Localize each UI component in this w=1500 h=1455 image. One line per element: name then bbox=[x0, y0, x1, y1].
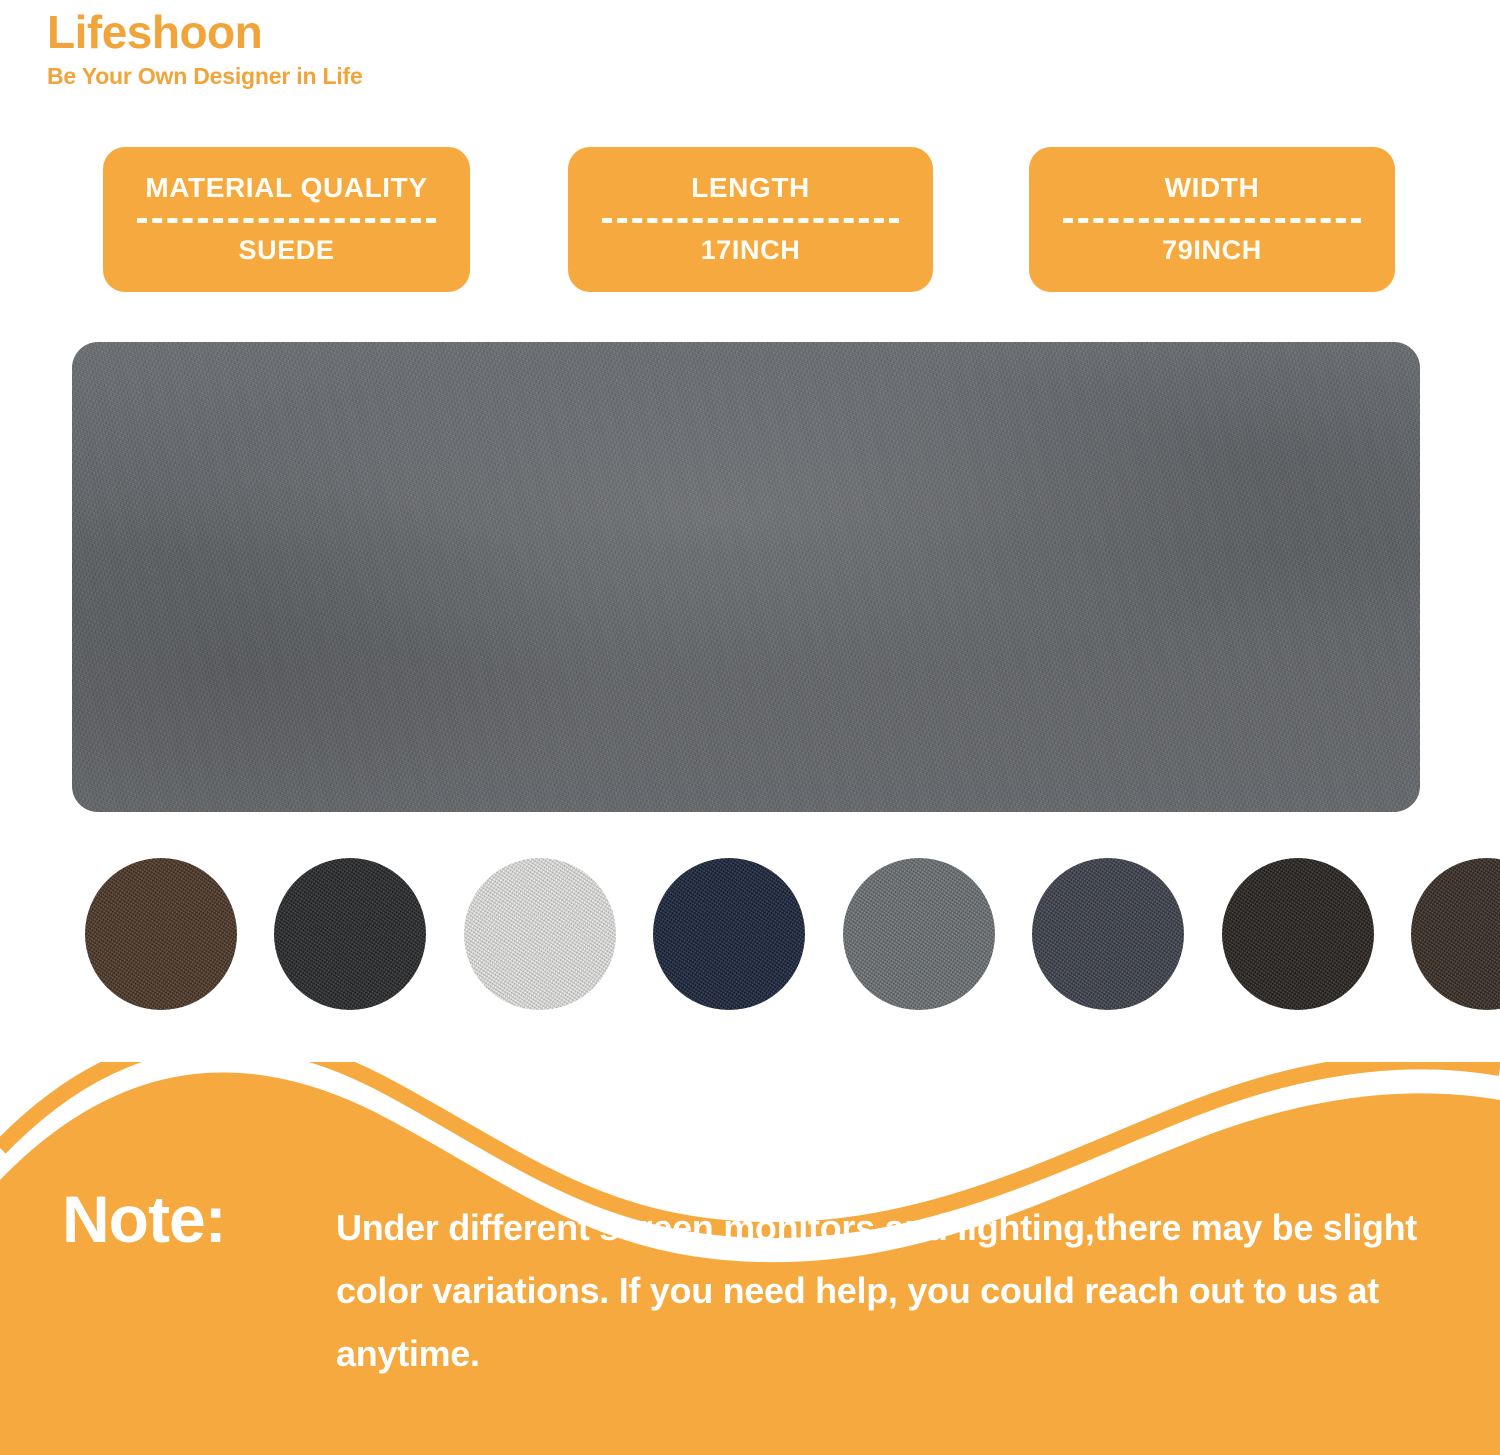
dashed-divider bbox=[1063, 218, 1360, 223]
product-infographic: Lifeshoon Be Your Own Designer in Life M… bbox=[0, 0, 1500, 1455]
spec-label: LENGTH bbox=[691, 173, 810, 204]
spec-value: 17INCH bbox=[701, 236, 801, 266]
spec-card-length: LENGTH 17INCH bbox=[568, 147, 933, 292]
dashed-divider bbox=[602, 218, 899, 223]
note-text: Under different screen monitors and ligh… bbox=[336, 1196, 1456, 1385]
note-footer: Note: Under different screen monitors an… bbox=[0, 1062, 1500, 1455]
color-swatch[interactable] bbox=[1032, 858, 1184, 1010]
color-swatch[interactable] bbox=[464, 858, 616, 1010]
note-label: Note: bbox=[62, 1186, 226, 1252]
spec-card-material-quality: MATERIAL QUALITY SUEDE bbox=[103, 147, 470, 292]
brand-tagline: Be Your Own Designer in Life bbox=[47, 64, 747, 89]
spec-value: 79INCH bbox=[1162, 236, 1262, 266]
spec-value: SUEDE bbox=[238, 236, 334, 266]
brand-header: Lifeshoon Be Your Own Designer in Life bbox=[47, 8, 747, 89]
color-swatch[interactable] bbox=[274, 858, 426, 1010]
spec-card-row: MATERIAL QUALITY SUEDE LENGTH 17INCH WID… bbox=[0, 147, 1500, 292]
brand-name: Lifeshoon bbox=[47, 8, 747, 58]
spec-label: MATERIAL QUALITY bbox=[145, 173, 427, 204]
color-swatch-row bbox=[0, 858, 1500, 1010]
spec-label: WIDTH bbox=[1165, 173, 1260, 204]
spec-card-width: WIDTH 79INCH bbox=[1029, 147, 1395, 292]
product-image bbox=[72, 342, 1420, 812]
color-swatch[interactable] bbox=[1222, 858, 1374, 1010]
note-content: Note: Under different screen monitors an… bbox=[0, 1062, 1500, 1455]
dashed-divider bbox=[137, 218, 435, 223]
color-swatch[interactable] bbox=[85, 858, 237, 1010]
color-swatch[interactable] bbox=[653, 858, 805, 1010]
color-swatch[interactable] bbox=[843, 858, 995, 1010]
color-swatch[interactable] bbox=[1411, 858, 1500, 1010]
